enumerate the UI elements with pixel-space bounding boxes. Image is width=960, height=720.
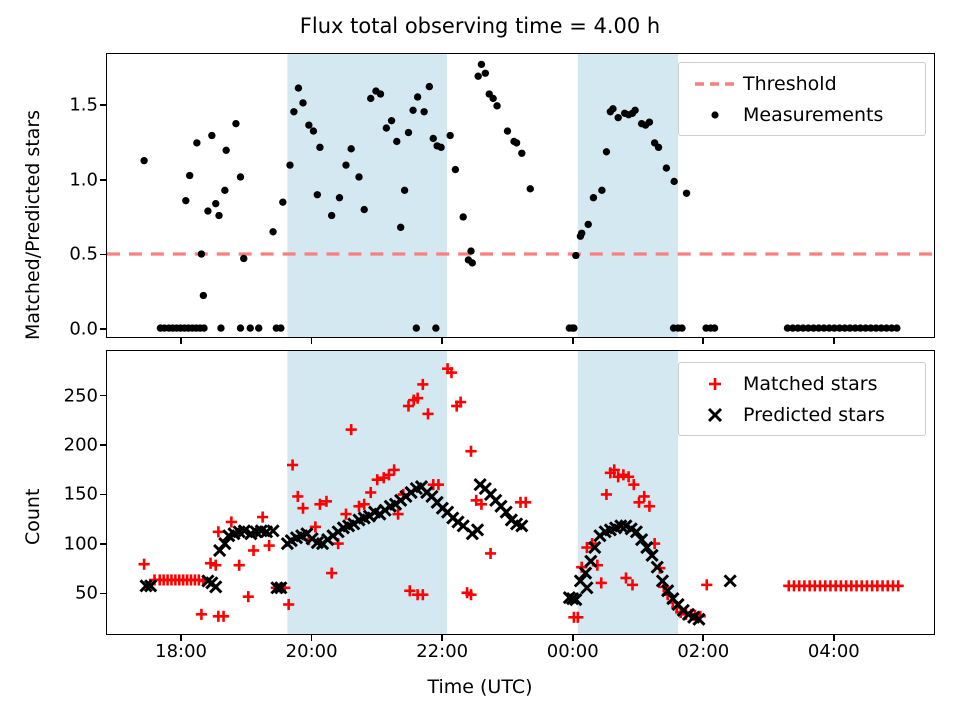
legend-label-measurements: Measurements	[743, 104, 883, 126]
x-tick-mark	[833, 635, 835, 641]
figure-title: Flux total observing time = 4.00 h	[0, 14, 960, 38]
data-point-measurement	[452, 166, 459, 173]
data-point-measurement	[413, 324, 420, 331]
top-panel-legend: Threshold Measurements	[678, 62, 926, 136]
data-point-measurement	[446, 132, 453, 139]
x-tick-label: 20:00	[272, 641, 352, 662]
data-point-measurement	[269, 228, 276, 235]
x-tick-mark	[572, 338, 574, 344]
x-tick-mark	[441, 338, 443, 344]
data-point-measurement	[255, 324, 262, 331]
data-point-matched	[243, 591, 254, 602]
x-tick-label: 22:00	[402, 641, 482, 662]
data-point-measurement	[237, 173, 244, 180]
data-point-measurement	[336, 194, 343, 201]
data-point-measurement	[232, 120, 239, 127]
data-point-measurement	[299, 99, 306, 106]
cross-icon	[687, 406, 743, 424]
data-point-measurement	[314, 191, 321, 198]
x-tick-label: 04:00	[794, 641, 874, 662]
data-point-measurement	[426, 83, 433, 90]
data-point-measurement	[420, 108, 427, 115]
x-tick-label: 02:00	[663, 641, 743, 662]
x-tick-label: 00:00	[533, 641, 613, 662]
y-tick-label: 100	[44, 533, 98, 554]
y-tick-mark	[100, 254, 106, 256]
data-point-measurement	[572, 252, 579, 259]
data-point-measurement	[193, 139, 200, 146]
x-tick-mark	[311, 338, 313, 344]
x-tick-mark	[833, 338, 835, 344]
data-point-measurement	[683, 190, 690, 197]
data-point-matched	[465, 446, 476, 457]
data-point-measurement	[277, 324, 284, 331]
data-point-measurement	[222, 147, 229, 154]
y-tick-mark	[100, 328, 106, 330]
x-tick-mark	[572, 635, 574, 641]
data-point-measurement	[140, 157, 147, 164]
data-point-matched	[196, 609, 207, 620]
data-point-measurement	[215, 212, 222, 219]
data-point-measurement	[482, 70, 489, 77]
data-point-measurement	[361, 206, 368, 213]
data-point-measurement	[570, 324, 577, 331]
data-point-predicted	[472, 524, 483, 535]
y-tick-mark	[100, 395, 106, 397]
y-tick-mark	[100, 543, 106, 545]
data-point-measurement	[217, 324, 224, 331]
x-tick-mark	[702, 635, 704, 641]
data-point-measurement	[474, 73, 481, 80]
bottom-panel-y-axis-label: Count	[22, 489, 44, 545]
data-point-measurement	[437, 144, 444, 151]
plus-icon	[687, 375, 743, 393]
legend-label-threshold: Threshold	[743, 73, 837, 95]
data-point-measurement	[513, 139, 520, 146]
data-point-measurement	[383, 124, 390, 131]
data-point-measurement	[397, 224, 404, 231]
data-point-matched	[520, 497, 531, 508]
data-point-measurement	[460, 213, 467, 220]
y-tick-mark	[100, 179, 106, 181]
data-point-measurement	[290, 108, 297, 115]
data-point-measurement	[527, 185, 534, 192]
data-point-measurement	[432, 324, 439, 331]
y-tick-label: 50	[44, 583, 98, 604]
data-point-matched	[218, 611, 229, 622]
y-tick-mark	[100, 593, 106, 595]
data-point-measurement	[504, 127, 511, 134]
data-point-measurement	[237, 324, 244, 331]
data-point-measurement	[409, 107, 416, 114]
data-point-matched	[893, 580, 904, 591]
data-point-measurement	[603, 148, 610, 155]
data-point-measurement	[430, 135, 437, 142]
bottom-panel-legend: Matched stars Predicted stars	[678, 362, 926, 436]
top-panel-y-axis-label: Matched/Predicted stars	[22, 110, 44, 340]
data-point-measurement	[469, 259, 476, 266]
y-tick-label: 1.0	[44, 169, 98, 190]
data-point-measurement	[367, 95, 374, 102]
data-point-measurement	[401, 187, 408, 194]
x-tick-mark	[702, 338, 704, 344]
data-point-measurement	[208, 132, 215, 139]
legend-item-threshold: Threshold	[687, 68, 915, 99]
data-point-measurement	[279, 198, 286, 205]
data-point-measurement	[467, 247, 474, 254]
data-point-matched	[257, 512, 268, 523]
x-tick-label: 18:00	[141, 641, 221, 662]
data-point-measurement	[614, 114, 621, 121]
y-tick-label: 200	[44, 435, 98, 456]
legend-item-measurements: Measurements	[687, 99, 915, 130]
data-point-measurement	[240, 255, 247, 262]
dot-icon	[687, 109, 743, 121]
y-tick-label: 1.5	[44, 95, 98, 116]
data-point-matched	[485, 548, 496, 559]
data-point-measurement	[295, 84, 302, 91]
data-point-measurement	[388, 117, 395, 124]
legend-item-predicted-stars: Predicted stars	[687, 399, 915, 430]
data-point-measurement	[489, 95, 496, 102]
x-tick-mark	[311, 635, 313, 641]
data-point-measurement	[663, 164, 670, 171]
data-point-matched	[139, 559, 150, 570]
data-point-measurement	[198, 250, 205, 257]
data-point-measurement	[310, 127, 317, 134]
data-point-measurement	[678, 324, 685, 331]
data-point-measurement	[493, 102, 500, 109]
data-point-measurement	[578, 230, 585, 237]
y-tick-mark	[100, 494, 106, 496]
data-point-matched	[701, 579, 712, 590]
y-tick-label: 250	[44, 385, 98, 406]
data-point-measurement	[670, 178, 677, 185]
data-point-measurement	[200, 292, 207, 299]
data-point-measurement	[221, 187, 228, 194]
x-tick-mark	[441, 635, 443, 641]
data-point-measurement	[598, 187, 605, 194]
data-point-measurement	[405, 129, 412, 136]
data-point-measurement	[711, 324, 718, 331]
x-axis-label: Time (UTC)	[0, 676, 960, 698]
legend-item-matched-stars: Matched stars	[687, 368, 915, 399]
y-tick-label: 0.5	[44, 244, 98, 265]
data-point-measurement	[478, 61, 485, 68]
legend-label-predicted-stars: Predicted stars	[743, 404, 885, 426]
data-point-matched	[205, 558, 216, 569]
data-point-measurement	[182, 197, 189, 204]
x-tick-mark	[180, 338, 182, 344]
x-tick-mark	[180, 635, 182, 641]
y-tick-mark	[100, 104, 106, 106]
y-tick-label: 150	[44, 484, 98, 505]
data-point-measurement	[609, 105, 616, 112]
data-point-matched	[264, 540, 275, 551]
data-point-measurement	[247, 324, 254, 331]
data-point-measurement	[316, 144, 323, 151]
data-point-measurement	[414, 93, 421, 100]
y-tick-label: 0.0	[44, 319, 98, 340]
data-point-measurement	[348, 145, 355, 152]
data-point-measurement	[286, 161, 293, 168]
data-point-measurement	[355, 173, 362, 180]
data-point-measurement	[590, 194, 597, 201]
data-point-measurement	[200, 324, 207, 331]
data-point-matched	[213, 526, 224, 537]
data-point-measurement	[585, 221, 592, 228]
data-point-matched	[248, 545, 259, 556]
data-point-measurement	[342, 161, 349, 168]
y-tick-mark	[100, 444, 106, 446]
data-point-measurement	[655, 144, 662, 151]
legend-label-matched-stars: Matched stars	[743, 373, 877, 395]
dashed-line-icon	[687, 78, 743, 90]
data-point-measurement	[305, 121, 312, 128]
data-point-measurement	[393, 138, 400, 145]
data-point-measurement	[204, 207, 211, 214]
data-point-measurement	[328, 212, 335, 219]
shaded-region	[287, 54, 447, 337]
data-point-matched	[210, 560, 221, 571]
data-point-matched	[234, 560, 245, 571]
data-point-predicted	[725, 575, 736, 586]
data-point-measurement	[893, 324, 900, 331]
data-point-measurement	[377, 90, 384, 97]
data-point-measurement	[212, 200, 219, 207]
data-point-measurement	[646, 118, 653, 125]
data-point-measurement	[518, 150, 525, 157]
figure-canvas: Flux total observing time = 4.00 h Match…	[0, 0, 960, 720]
data-point-measurement	[186, 172, 193, 179]
data-point-measurement	[631, 107, 638, 114]
